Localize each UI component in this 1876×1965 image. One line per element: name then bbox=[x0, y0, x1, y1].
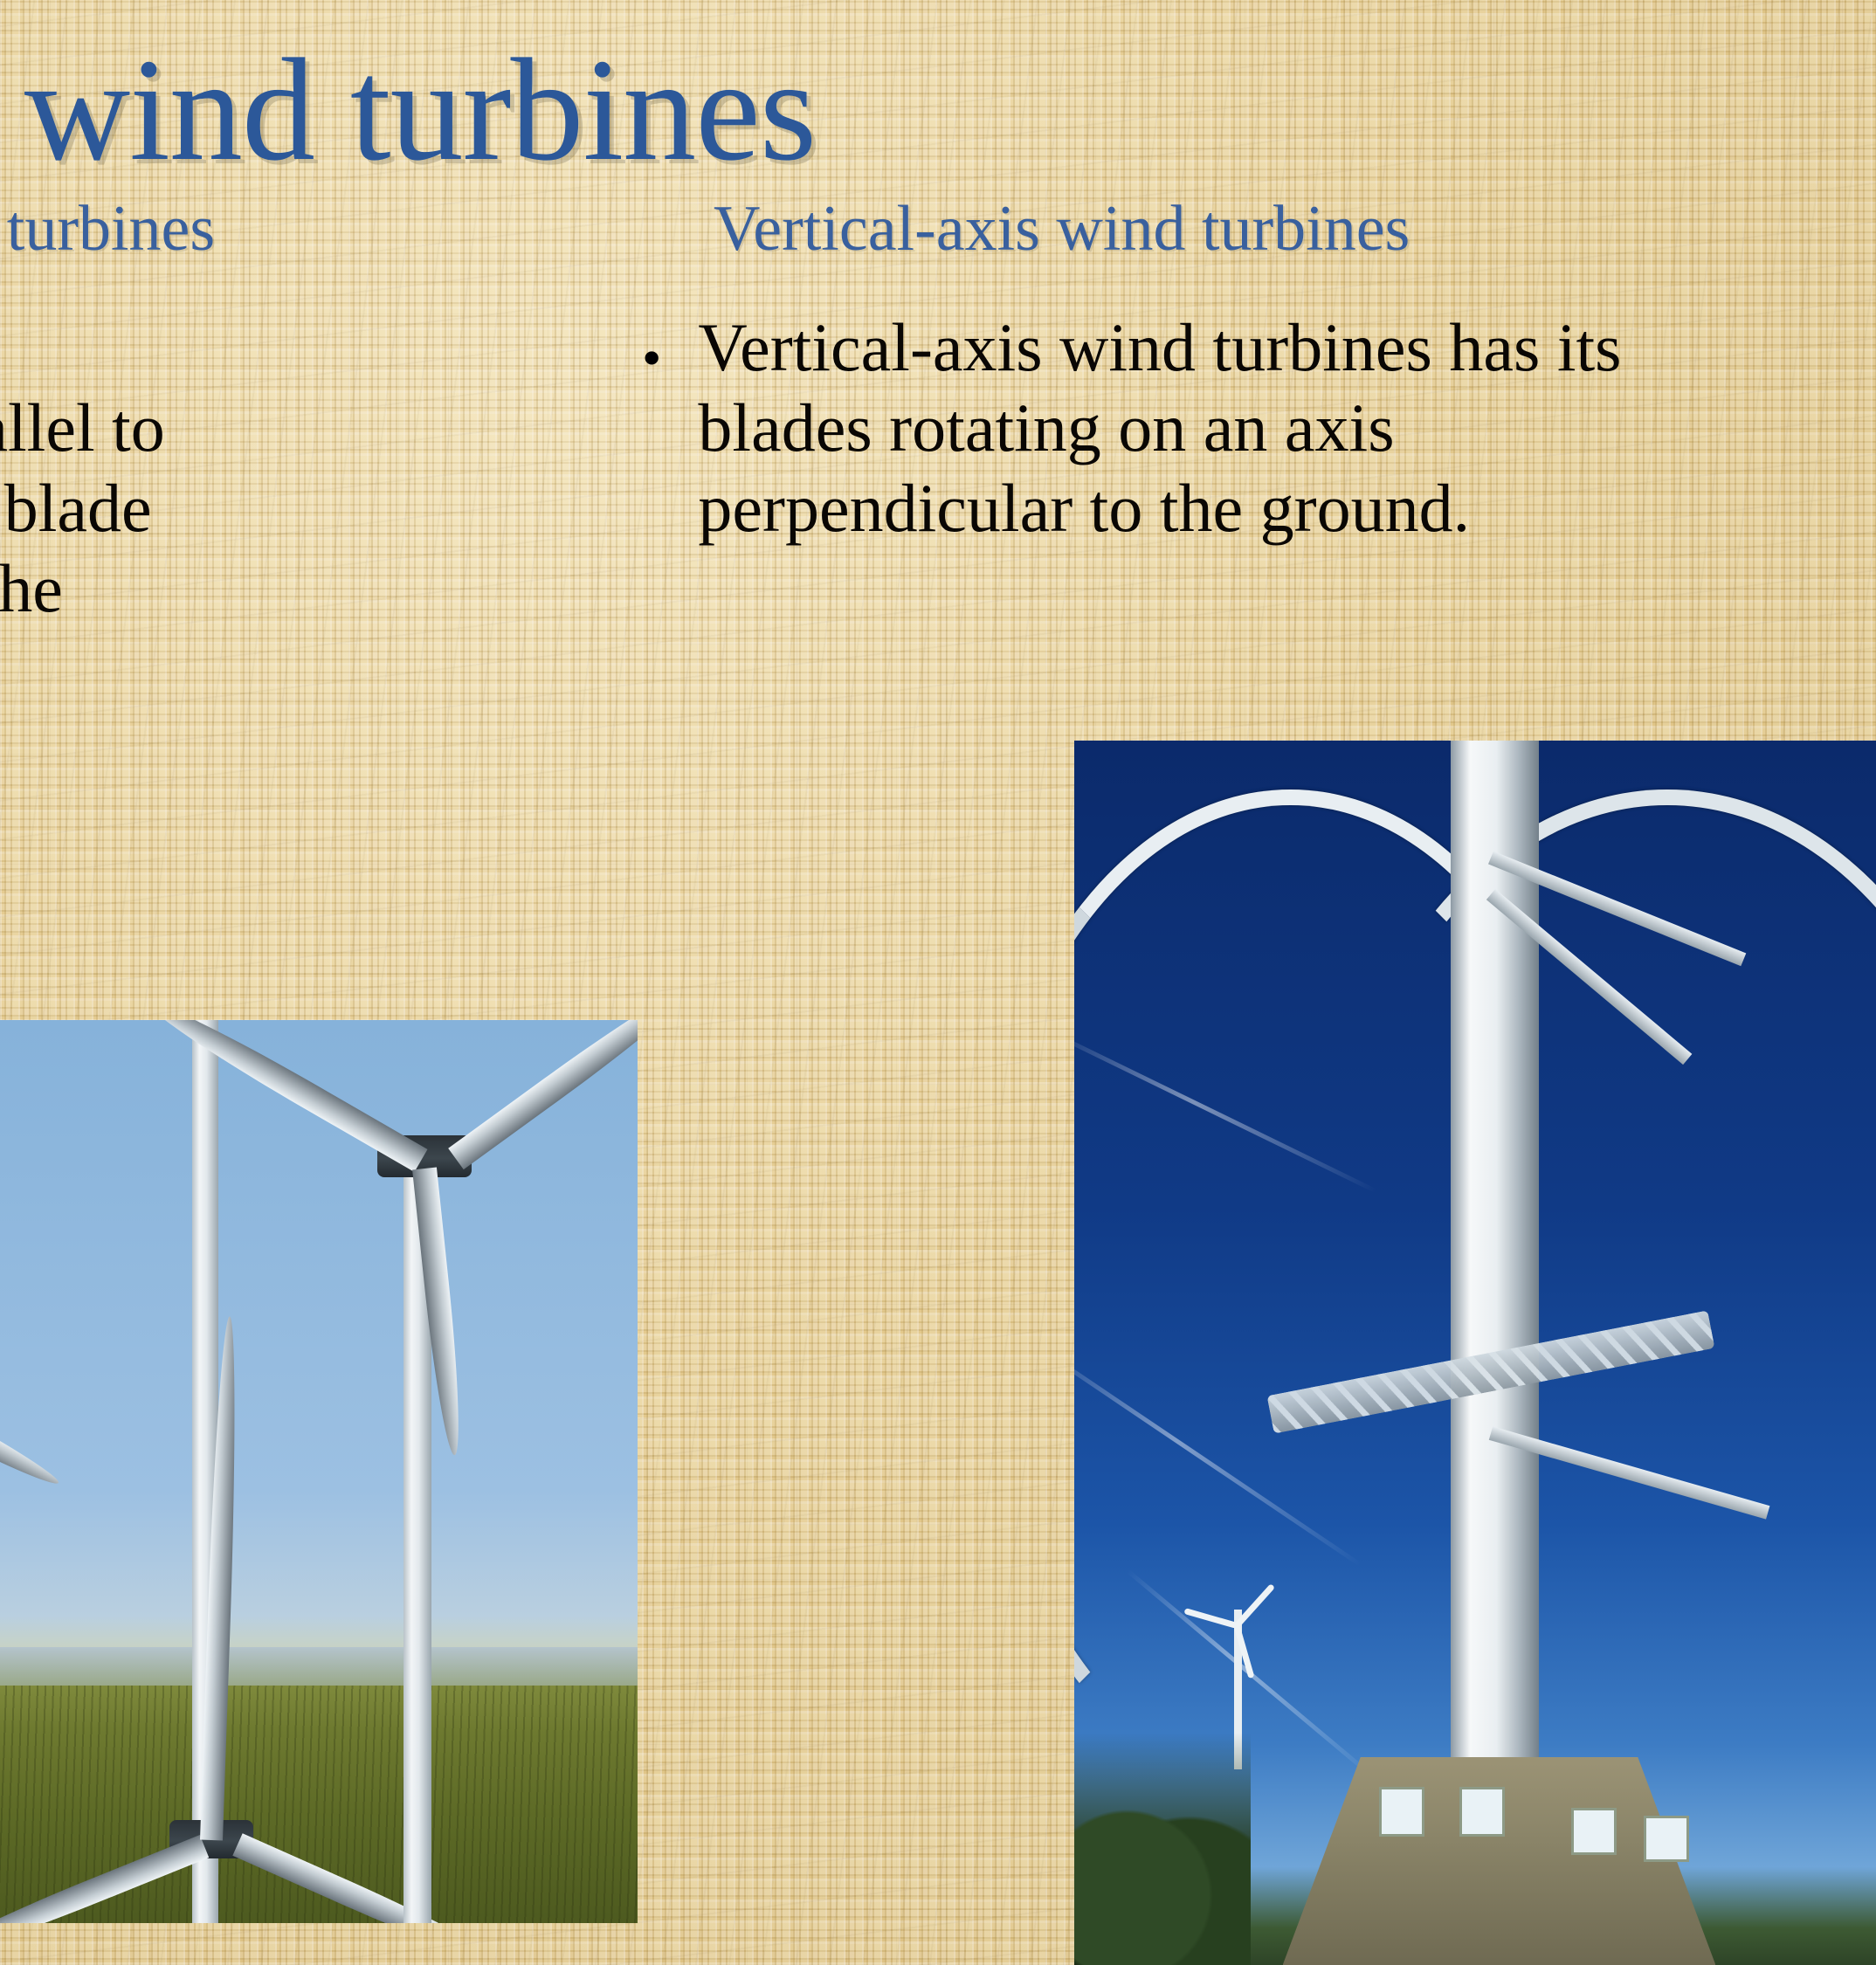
building-window bbox=[1571, 1808, 1617, 1855]
tree-line bbox=[1074, 1733, 1251, 1965]
photo-vertical-axis-wind-turbine bbox=[1074, 741, 1876, 1965]
column-heading-vertical-axis: Vertical-axis wind turbines bbox=[714, 194, 1674, 265]
building-window bbox=[1644, 1816, 1689, 1863]
wind-turbine-right bbox=[238, 1055, 638, 1923]
bullet-point-icon: • bbox=[642, 307, 661, 396]
column-heading-horizontal-axis: s wind turbines bbox=[0, 194, 693, 265]
building-window bbox=[1459, 1787, 1505, 1836]
photo-horizontal-axis-wind-turbines bbox=[0, 1020, 638, 1923]
column-body-vertical-axis: • Vertical-axis wind turbines has its bl… bbox=[642, 307, 1673, 548]
slide-title: es of wind turbines bbox=[0, 33, 1876, 187]
building-window bbox=[1379, 1787, 1424, 1836]
column-body-horizontal-axis: xis wind being parallel to he axis of bl… bbox=[0, 307, 613, 629]
bullet-text-vertical-axis: Vertical-axis wind turbines has its blad… bbox=[698, 307, 1673, 548]
